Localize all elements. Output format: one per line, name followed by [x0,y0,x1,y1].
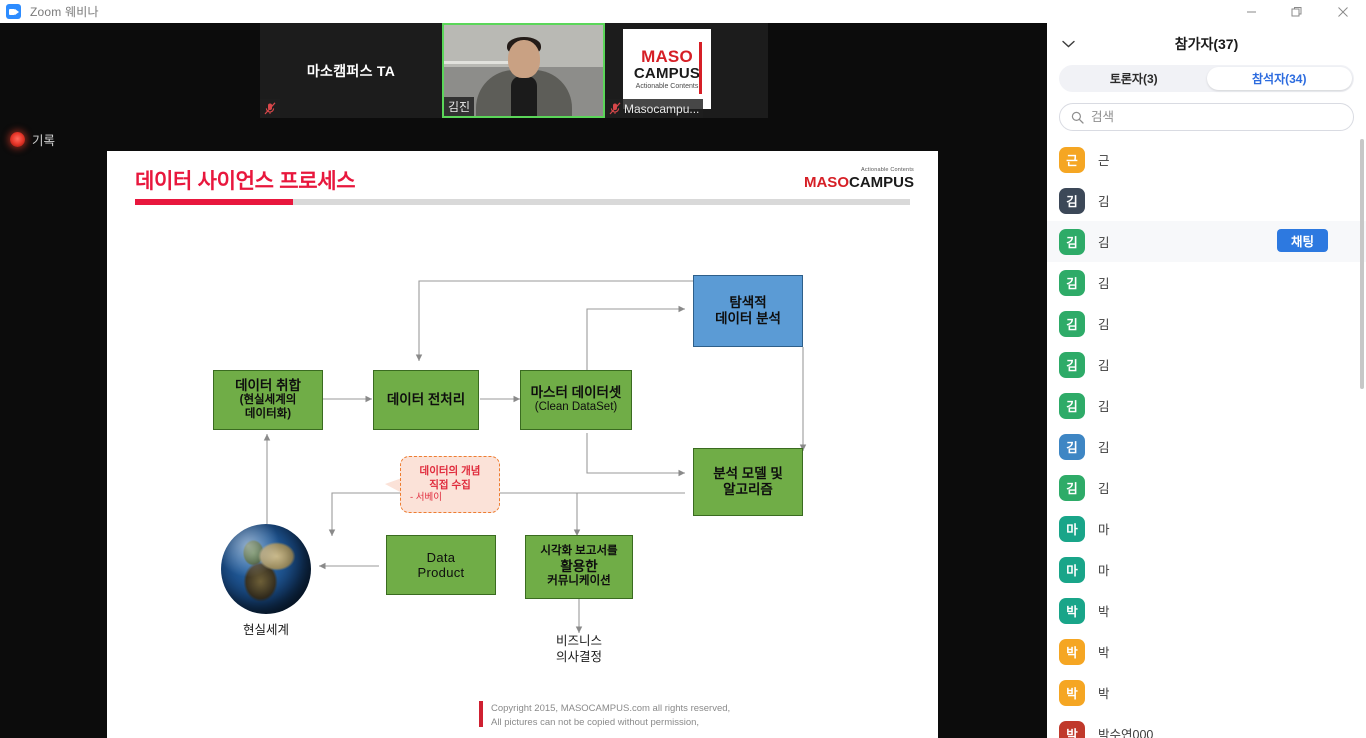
participant-name: 김 [1098,314,1110,333]
zoom-webinar-window: Zoom 웨비나 마소캠퍼스 TA [0,0,1366,738]
node-line-3: 데이터화) [245,408,291,422]
restore-button[interactable] [1274,0,1320,23]
video-tile-name: Masocampu... [624,102,699,116]
muted-mic-icon [609,102,621,115]
video-tile-name: 김진 [448,98,470,115]
participant-row[interactable]: 박박 [1047,631,1366,672]
copyright-line-2: All pictures can not be copied without p… [491,716,730,730]
avatar: 박 [1059,639,1085,665]
callout-line-3: - 서베이 [410,492,442,505]
recording-indicator[interactable]: 기록 [10,130,55,149]
node-line-2: (Clean DataSet) [535,401,617,415]
avatar: 김 [1059,188,1085,214]
node-line-2: (현실세계의 [240,394,297,408]
participant-name: 김 [1098,232,1110,251]
globe-label: 현실세계 [211,619,321,638]
avatar: 김 [1059,270,1085,296]
node-data-ingest: 데이터 취합 (현실세계의 데이터화) [213,370,323,430]
video-tile-namebar [260,99,280,118]
avatar: 김 [1059,434,1085,460]
earth-globe-image [221,524,311,614]
node-analysis-model-algorithm: 분석 모델 및 알고리즘 [693,448,803,516]
minimize-button[interactable] [1228,0,1274,23]
zoom-logo-icon [6,4,21,19]
node-line-1: 분석 모델 및 [713,466,783,482]
video-tile-ta[interactable]: 마소캠퍼스 TA [260,23,442,118]
participant-name: 마 [1098,560,1110,579]
participant-row[interactable]: 김김채팅 [1047,221,1366,262]
participant-name: 박 [1098,642,1110,661]
avatar: 김 [1059,352,1085,378]
recording-dot-icon [10,132,25,147]
video-tile-namebar: Masocampu... [605,99,703,118]
node-line-1: 데이터 전처리 [387,392,465,408]
participant-name: 김 [1098,478,1110,497]
avatar: 박 [1059,721,1085,738]
participant-row[interactable]: 김김 [1047,262,1366,303]
node-preprocessing: 데이터 전처리 [373,370,479,430]
participant-name: 김 [1098,273,1110,292]
participants-scrollbar[interactable] [1360,139,1364,389]
node-line-1: Data [427,550,456,565]
node-line-1: 탐색적 [729,295,766,311]
avatar: 마 [1059,516,1085,542]
participants-title: 참가자(37) [1047,34,1366,54]
node-line-1: 시각화 보고서를 [540,545,617,559]
node-line-2: Product [418,565,465,580]
participant-row[interactable]: 김김 [1047,344,1366,385]
participant-row[interactable]: 마마 [1047,508,1366,549]
video-tile-masocampus[interactable]: MASO CAMPUS Actionable Contents M [605,23,768,118]
search-icon [1071,111,1084,124]
participant-name: 박 [1098,601,1110,620]
logo-tagline: Actionable Contents [636,83,699,90]
node-line-2: 알고리즘 [723,482,773,498]
participant-row[interactable]: 마마 [1047,549,1366,590]
avatar: 마 [1059,557,1085,583]
avatar: 박 [1059,598,1085,624]
node-exploratory-data-analysis: 탐색적 데이터 분석 [693,275,803,347]
muted-mic-icon [264,102,276,115]
participant-name: 김 [1098,191,1110,210]
avatar: 김 [1059,311,1085,337]
node-line-1: 데이터 취합 [235,378,301,394]
tab-attendees[interactable]: 참석자(34) [1207,67,1353,90]
participant-name: 김 [1098,437,1110,456]
participant-row[interactable]: 김김 [1047,385,1366,426]
node-master-dataset: 마스터 데이터셋 (Clean DataSet) [520,370,632,430]
participant-row[interactable]: 박박 [1047,672,1366,713]
logo-word-maso: MASO [641,48,693,66]
node-data-product: Data Product [386,535,496,595]
participants-panel-header: 참가자(37) [1047,23,1366,65]
title-bar: Zoom 웨비나 [0,0,1366,23]
tab-panelists[interactable]: 토론자(3) [1061,67,1207,90]
participant-row[interactable]: 박박수연000 [1047,713,1366,738]
participant-name: 김 [1098,396,1110,415]
participant-row[interactable]: 김김 [1047,467,1366,508]
video-tile-namebar: 김진 [444,97,474,116]
participant-row[interactable]: 김김 [1047,180,1366,221]
participant-name: 마 [1098,519,1110,538]
chat-button[interactable]: 채팅 [1277,229,1328,252]
chevron-down-icon[interactable] [1059,35,1077,53]
participant-row[interactable]: 김김 [1047,303,1366,344]
participants-list[interactable]: 근근김김김김채팅김김김김김김김김김김김김마마마마박박박박박박박박수연000 [1047,139,1366,738]
participant-row[interactable]: 김김 [1047,426,1366,467]
participant-row[interactable]: 박박 [1047,590,1366,631]
participant-name: 박 [1098,683,1110,702]
avatar: 김 [1059,393,1085,419]
video-filmstrip: 마소캠퍼스 TA [260,23,768,118]
avatar: 박 [1059,680,1085,706]
participant-name: 박수연000 [1098,724,1153,738]
video-tile-name-large: 마소캠퍼스 TA [307,61,395,81]
callout-survey: 데이터의 개념 직접 수집 - 서베이 [400,456,500,513]
node-line-1: 마스터 데이터셋 [531,385,622,401]
avatar: 근 [1059,147,1085,173]
participants-tabs: 토론자(3) 참석자(34) [1059,65,1354,92]
search-input[interactable] [1091,110,1342,124]
video-tile-kim-jin[interactable]: 김진 [442,23,605,118]
callout-line-2: 직접 수집 [429,478,471,492]
logo-accent-bar [699,42,702,94]
decision-line-2: 의사결정 [519,649,639,665]
participant-row[interactable]: 근근 [1047,139,1366,180]
avatar: 김 [1059,229,1085,255]
copyright-line-1: Copyright 2015, MASOCAMPUS.com all right… [491,702,730,716]
node-visualization-communication: 시각화 보고서를 활용한 커뮤니케이션 [525,535,633,599]
app-title: Zoom 웨비나 [30,3,99,20]
node-line-3: 커뮤니케이션 [547,575,610,589]
participants-panel: 참가자(37) 토론자(3) 참석자(34) 근근김김김김채팅김김김김김김김김김… [1047,23,1366,738]
logo-word-campus: CAMPUS [634,66,700,82]
meeting-canvas: 마소캠퍼스 TA [0,23,1047,738]
participant-name: 김 [1098,355,1110,374]
participant-name: 근 [1098,150,1110,169]
callout-line-1: 데이터의 개념 [420,464,481,478]
window-controls [1228,0,1366,23]
close-button[interactable] [1320,0,1366,23]
node-line-2: 데이터 분석 [715,311,781,327]
masocampus-logo: MASO CAMPUS Actionable Contents [623,29,711,109]
slide-copyright: Copyright 2015, MASOCAMPUS.com all right… [479,701,730,730]
decision-line-1: 비즈니스 [519,633,639,649]
node-line-2: 활용한 [560,559,597,575]
recording-label: 기록 [32,130,55,149]
avatar: 김 [1059,475,1085,501]
copyright-accent-bar [479,701,483,727]
shared-slide: 데이터 사이언스 프로세스 Actionable Contents MASOCA… [107,151,938,738]
business-decision-label: 비즈니스 의사결정 [519,633,639,666]
search-field[interactable] [1059,103,1354,131]
